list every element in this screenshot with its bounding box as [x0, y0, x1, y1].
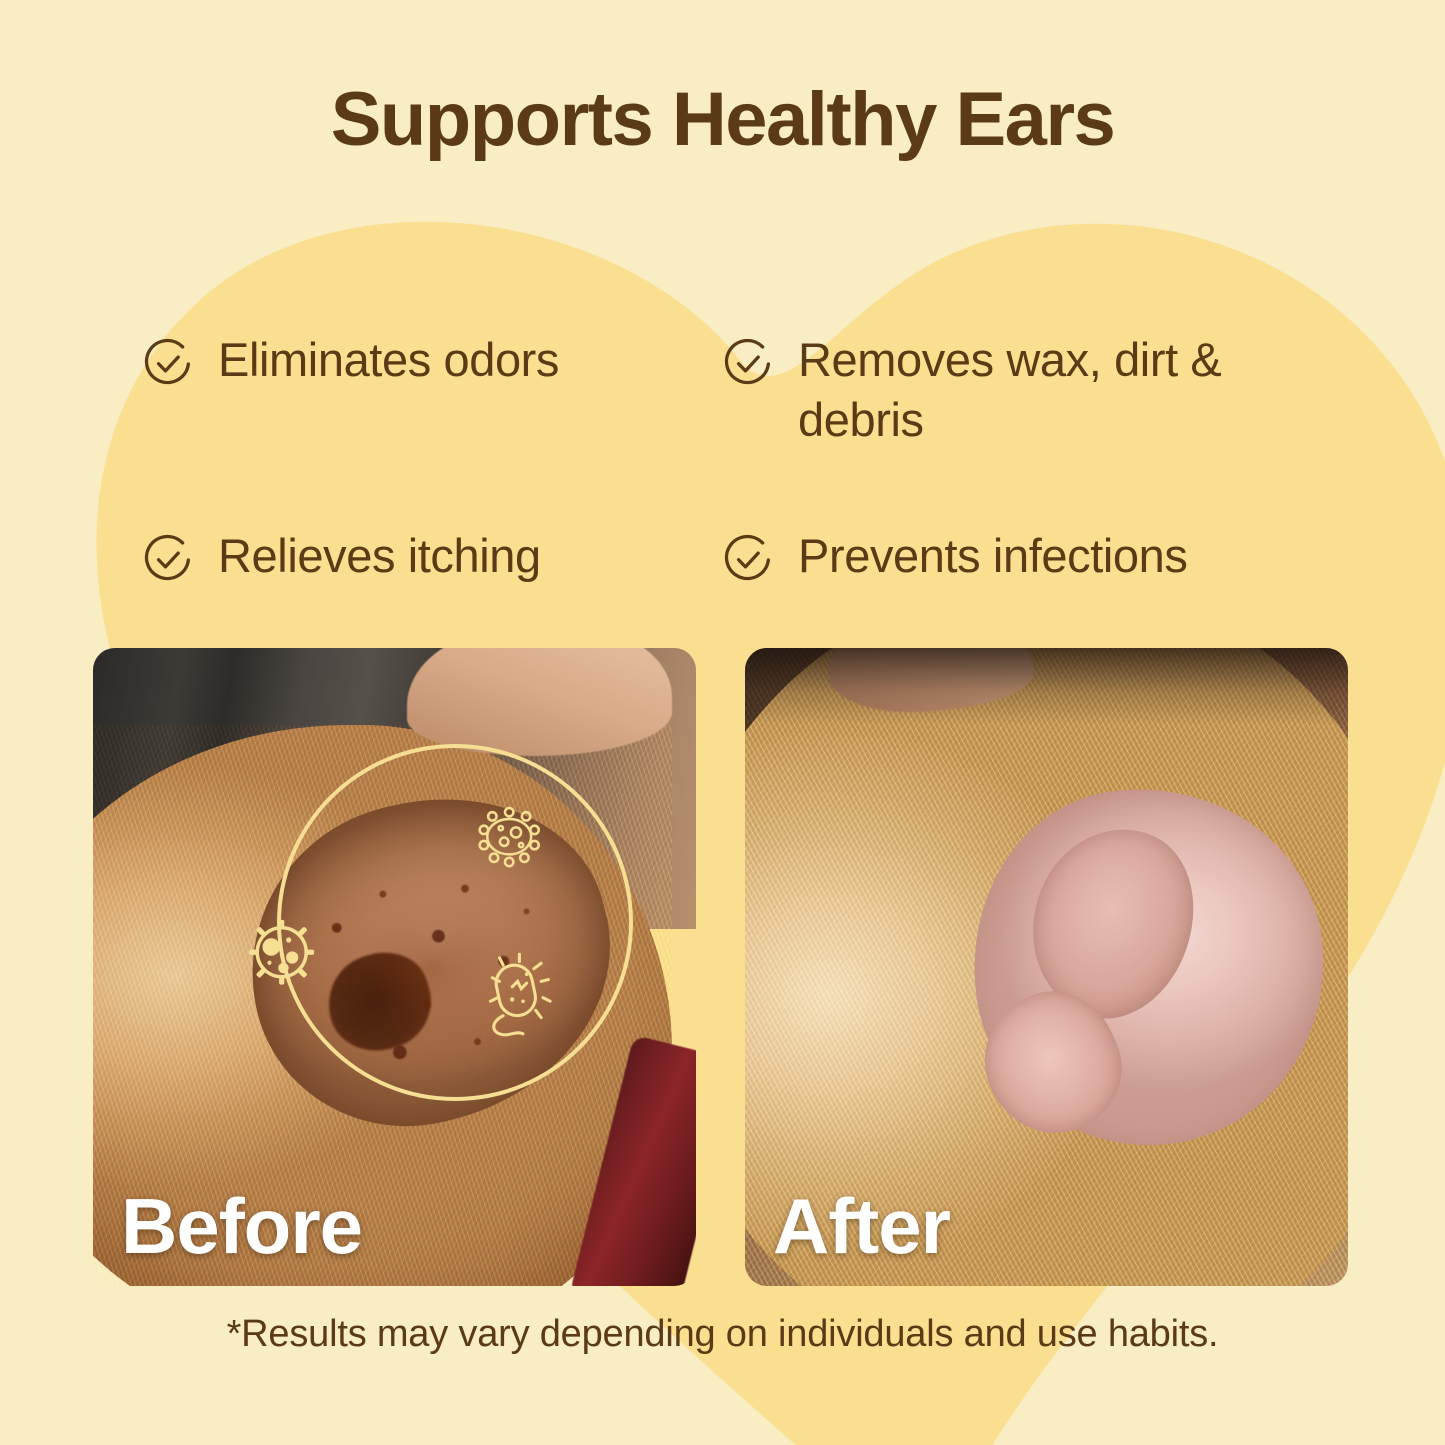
check-circle-icon — [720, 532, 776, 588]
page-title: Supports Healthy Ears — [0, 78, 1445, 162]
before-photo-card: Before — [93, 648, 696, 1286]
promo-graphic: Supports Healthy Ears Eliminates odors R… — [0, 0, 1445, 1445]
benefit-item: Removes wax, dirt & debris — [720, 330, 1310, 450]
benefit-label: Relieves itching — [218, 526, 541, 586]
benefit-item: Eliminates odors — [140, 330, 720, 450]
after-caption: After — [773, 1181, 950, 1272]
benefits-list: Eliminates odors Removes wax, dirt & deb… — [140, 330, 1310, 588]
after-photo-card: After — [745, 648, 1348, 1286]
disclaimer-text: *Results may vary depending on individua… — [0, 1313, 1445, 1356]
magnifier-circle — [277, 744, 633, 1101]
check-circle-icon — [140, 532, 196, 588]
benefit-item: Relieves itching — [140, 526, 720, 588]
virus-icon — [467, 792, 551, 881]
check-circle-icon — [720, 336, 776, 392]
benefit-label: Prevents infections — [798, 526, 1188, 586]
benefit-label: Removes wax, dirt & debris — [798, 330, 1310, 450]
check-circle-icon — [140, 336, 196, 392]
benefit-item: Prevents infections — [720, 526, 1310, 588]
microbe-cell-icon — [238, 906, 325, 999]
bacillus-bacteria-icon — [476, 948, 566, 1044]
before-caption: Before — [121, 1181, 362, 1272]
benefit-label: Eliminates odors — [218, 330, 559, 390]
